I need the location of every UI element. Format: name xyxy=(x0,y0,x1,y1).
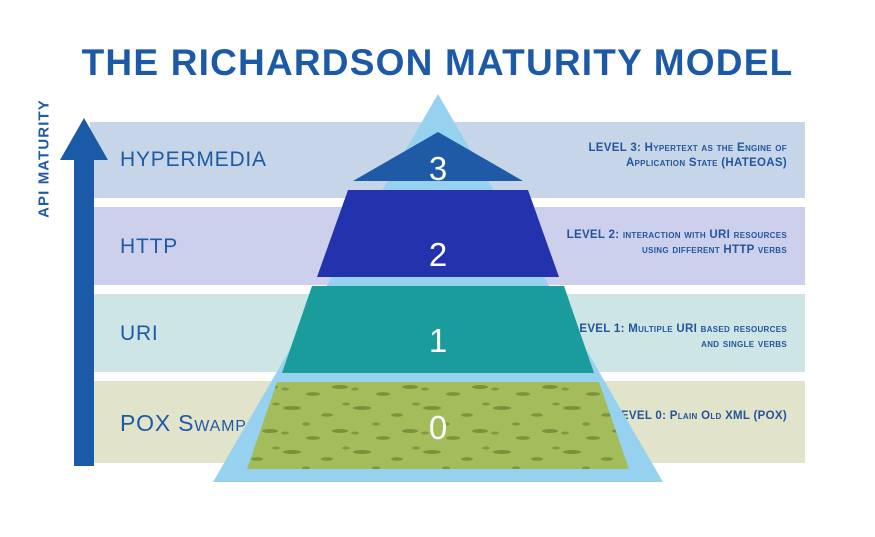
api-maturity-axis xyxy=(58,116,110,468)
tier-number-3: 3 xyxy=(408,150,468,188)
level-label-http: HTTP xyxy=(120,235,178,259)
tier-number-1: 1 xyxy=(408,322,468,360)
tier-number-0: 0 xyxy=(408,409,468,447)
page-title: THE RICHARDSON MATURITY MODEL xyxy=(0,42,875,84)
level-label-uri: URI xyxy=(120,322,159,346)
richardson-maturity-model-infographic: THE RICHARDSON MATURITY MODEL HYPERMEDIA… xyxy=(0,0,875,537)
api-maturity-label: API MATURITY xyxy=(36,79,53,239)
up-arrow-icon xyxy=(58,116,110,468)
tier-number-2: 2 xyxy=(408,236,468,274)
